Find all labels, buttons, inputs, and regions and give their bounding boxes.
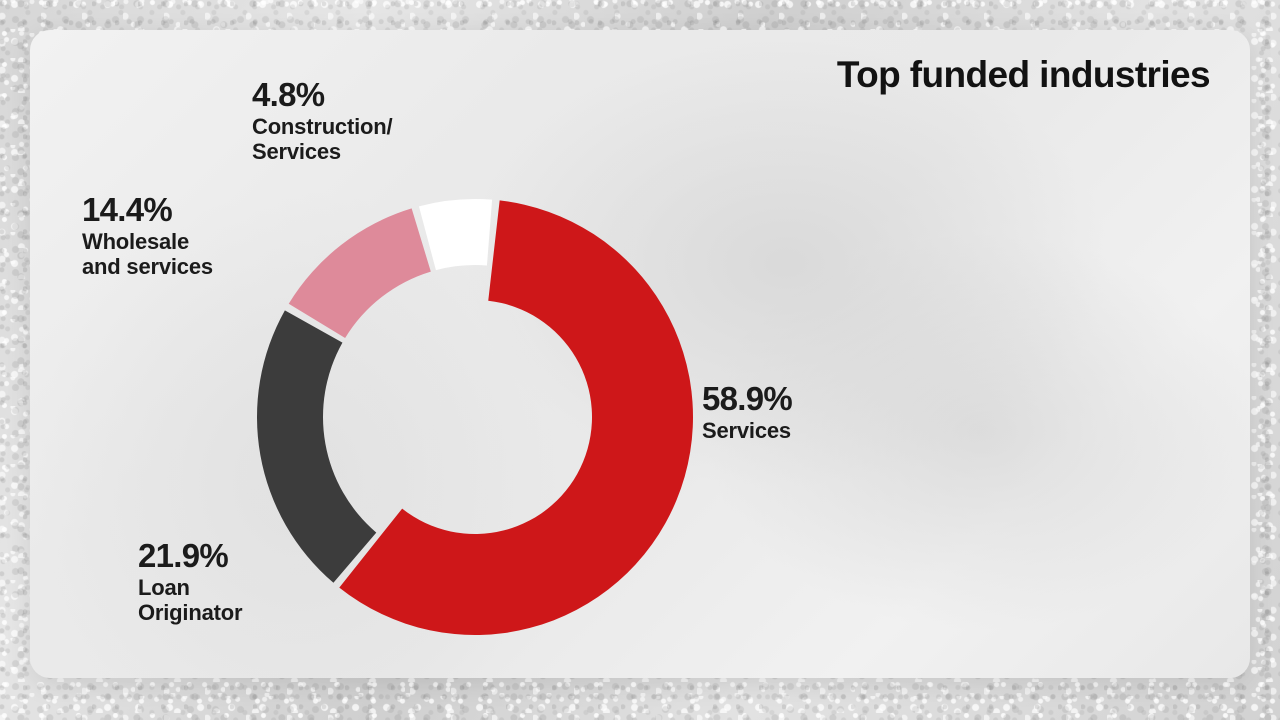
page-title: Top funded industries — [837, 54, 1210, 96]
slice-label-construction-name: Construction/ Services — [252, 115, 392, 165]
slice-label-construction: 4.8% Construction/ Services — [252, 78, 392, 165]
slice-label-loan-originator-name: Loan Originator — [138, 576, 242, 626]
slice-label-construction-value: 4.8% — [252, 78, 392, 112]
slice-label-services: 58.9% Services — [702, 382, 792, 444]
slice-label-wholesale-value: 14.4% — [82, 193, 213, 227]
slice-label-services-value: 58.9% — [702, 382, 792, 416]
slice-label-services-name: Services — [702, 419, 792, 444]
slice-label-loan-originator-value: 21.9% — [138, 539, 242, 573]
donut-slices — [257, 199, 693, 635]
chart-card: Top funded industries 4.8% Construction/… — [30, 30, 1250, 678]
slice-loan-originator[interactable] — [257, 310, 376, 582]
slice-label-wholesale-name: Wholesale and services — [82, 230, 213, 280]
slice-construction[interactable] — [419, 199, 492, 270]
donut-chart-svg — [227, 169, 723, 665]
slice-label-loan-originator: 21.9% Loan Originator — [138, 539, 242, 626]
slice-wholesale[interactable] — [289, 208, 431, 338]
slice-label-wholesale: 14.4% Wholesale and services — [82, 193, 213, 280]
donut-chart — [227, 169, 723, 665]
